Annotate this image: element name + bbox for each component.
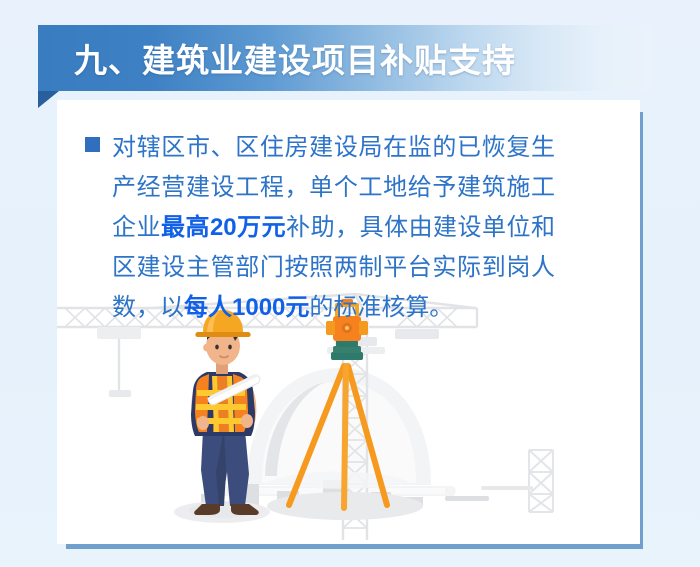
policy-paragraph: 对辖区市、区住房建设局在监的已恢复生产经营建设工程，单个工地给予建筑施工企业最高… [85,128,555,328]
policy-highlight-2: 每人1000元 [184,294,309,321]
policy-text-part-3: 的标准核算。 [309,294,453,321]
illustration [57,290,640,544]
section-banner: 九、建筑业建设项目补贴支持 [38,25,652,91]
banner-fold-corner [38,91,59,108]
bullet-square-icon [85,137,100,152]
worker-hand-right [241,414,253,428]
policy-highlight-1: 最高20万元 [161,214,286,241]
content-body: 对辖区市、区住房建设局在监的已恢复生产经营建设工程，单个工地给予建筑施工企业最高… [85,128,555,328]
page-background: 对辖区市、区住房建设局在监的已恢复生产经营建设工程，单个工地给予建筑施工企业最高… [0,0,700,567]
worker-hand-left [197,416,209,430]
section-title: 九、建筑业建设项目补贴支持 [38,25,652,91]
small-crane-icon [529,450,553,512]
